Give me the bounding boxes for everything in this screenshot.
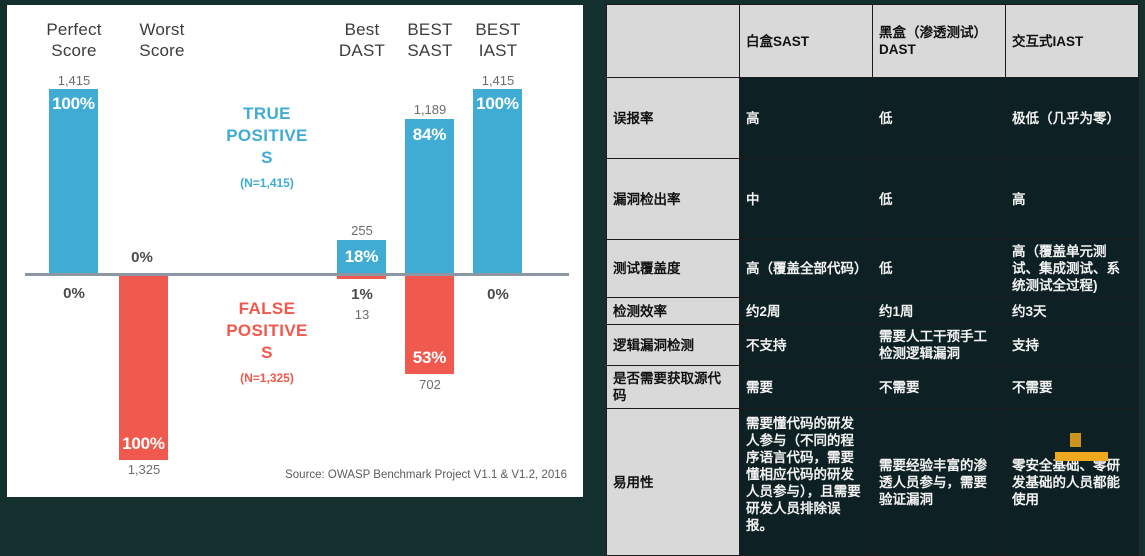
cell-detection-rate-iast: 高 [1006,159,1139,240]
table-column-header-dast: 黑盒（渗透测试） DAST [873,5,1006,78]
cell-ease-of-use-iast: 零安全基础、零研发基础的人员都能使用 [1006,409,1139,556]
col-header-lat: DAST [879,42,916,57]
table-header-row: 白盒SAST 黑盒（渗透测试） DAST 交互式IAST [607,5,1139,78]
cell-detection-rate-dast: 低 [873,159,1006,240]
cell-logic-flaw-detection-sast: 不支持 [740,325,873,366]
chart-source-attribution: Source: OWASP Benchmark Project V1.1 & V… [285,469,567,481]
bar-percent-label-worst-fp: 100% [119,434,168,454]
sast-dast-iast-comparison-table: 白盒SAST 黑盒（渗透测试） DAST 交互式IAST 误报率 高 低 极低（… [606,4,1139,556]
bar-count-label-iast-tp: 1,415 [463,73,533,88]
chart-column-header-worst-score: Worst Score [107,19,217,61]
header-line-2: IAST [459,40,537,61]
bar-count-label-dast-fp: 13 [327,307,397,322]
cell-detection-efficiency-sast: 约2周 [740,298,873,325]
table-row-ease-of-use: 易用性 需要懂代码的研发人参与（不同的程序语言代码，需要懂相应代码的研发人员参与… [607,409,1139,556]
legend-false-positives: FALSE POSITIVE S (N=1,325) [197,298,337,389]
table-row-false-positive-rate: 误报率 高 低 极低（几乎为零） [607,78,1139,159]
row-header-test-coverage: 测试覆盖度 [607,240,740,298]
cell-detection-rate-sast: 中 [740,159,873,240]
bar-count-label-dast-tp: 255 [327,223,397,238]
table-row-test-coverage: 测试覆盖度 高（覆盖全部代码） 低 高（覆盖单元测试、集成测试、系统测试全过程) [607,240,1139,298]
bar-fp-best-dast [337,276,386,279]
cell-false-positive-rate-iast: 极低（几乎为零） [1006,78,1139,159]
col-header-cjk: 黑盒（渗透测试） [879,25,987,40]
bar-percent-label-perfect-fp: 0% [39,285,109,302]
bar-tp-perfect-score: 100% [49,89,98,273]
comparison-table-wrapper: 白盒SAST 黑盒（渗透测试） DAST 交互式IAST 误报率 高 低 极低（… [606,4,1139,512]
header-line-2: DAST [323,40,401,61]
row-header-detection-efficiency: 检测效率 [607,298,740,325]
col-header-cjk: 交互式 [1012,34,1053,49]
table-row-detection-rate: 漏洞检出率 中 低 高 [607,159,1139,240]
table-corner-cell [607,5,740,78]
highlight-underline-marker [1055,452,1108,461]
legend-fp-line-3: S [197,342,337,364]
bar-percent-label-sast-tp: 84% [405,125,454,145]
table-row-logic-flaw-detection: 逻辑漏洞检测 不支持 需要人工干预手工检测逻辑漏洞 支持 [607,325,1139,366]
cell-logic-flaw-detection-dast: 需要人工干预手工检测逻辑漏洞 [873,325,1006,366]
header-line-1: BEST [391,19,469,40]
table-row-detection-efficiency: 检测效率 约2周 约1周 约3天 [607,298,1139,325]
col-header-cjk: 白盒 [746,34,773,49]
chart-column-header-best-dast: Best DAST [323,19,401,61]
legend-true-positives: TRUE POSITIVE S (N=1,415) [197,103,337,194]
bar-count-label-sast-tp: 1,189 [395,102,465,117]
cell-false-positive-rate-sast: 高 [740,78,873,159]
bar-percent-label-sast-fp: 53% [405,348,454,368]
bar-fp-worst-score: 100% [119,276,168,460]
col-header-lat: IAST [1053,34,1084,49]
legend-tp-line-3: S [197,147,337,169]
col-header-lat: SAST [773,34,809,49]
bar-tp-best-sast: 84% [405,119,454,273]
bar-percent-label-perfect-tp: 100% [49,94,98,114]
table-column-header-iast: 交互式IAST [1006,5,1139,78]
legend-fp-line-1: FALSE [197,298,337,320]
cell-test-coverage-iast: 高（覆盖单元测试、集成测试、系统测试全过程) [1006,240,1139,298]
cell-detection-efficiency-dast: 约1周 [873,298,1006,325]
cell-ease-of-use-dast: 需要经验丰富的渗透人员参与，需要验证漏洞 [873,409,1006,556]
cell-detection-efficiency-iast: 约3天 [1006,298,1139,325]
bar-tp-best-dast: 18% [337,240,386,273]
table-row-source-code-required: 是否需要获取源代码 需要 不需要 不需要 [607,366,1139,409]
header-line-2: Score [107,40,217,61]
header-line-1: Worst [107,19,217,40]
owasp-benchmark-chart: Perfect Score Worst Score Best DAST BEST… [7,5,583,497]
cell-test-coverage-dast: 低 [873,240,1006,298]
bar-count-label-perfect-tp: 1,415 [39,73,109,88]
chart-column-header-best-iast: BEST IAST [459,19,537,61]
bar-percent-label-iast-tp: 100% [473,94,522,114]
legend-fp-line-2: POSITIVE [197,320,337,342]
chart-column-header-best-sast: BEST SAST [391,19,469,61]
legend-fp-sample-size: (N=1,325) [197,367,337,389]
highlight-caret-icon [1070,433,1081,447]
bar-percent-label-iast-fp: 0% [463,286,533,303]
cell-test-coverage-sast: 高（覆盖全部代码） [740,240,873,298]
chart-baseline [25,273,569,276]
bar-count-label-sast-fp: 702 [395,377,465,392]
bar-percent-label-dast-fp: 1% [327,286,397,303]
legend-tp-sample-size: (N=1,415) [197,172,337,194]
header-line-1: Best [323,19,401,40]
legend-tp-line-2: POSITIVE [197,125,337,147]
cell-false-positive-rate-dast: 低 [873,78,1006,159]
bar-tp-best-iast: 100% [473,89,522,273]
bar-fp-best-sast: 53% [405,276,454,374]
slide: Perfect Score Worst Score Best DAST BEST… [0,0,1145,520]
cell-source-code-required-sast: 需要 [740,366,873,409]
row-header-logic-flaw-detection: 逻辑漏洞检测 [607,325,740,366]
cell-source-code-required-iast: 不需要 [1006,366,1139,409]
cell-logic-flaw-detection-iast: 支持 [1006,325,1139,366]
row-header-ease-of-use: 易用性 [607,409,740,556]
bar-percent-label-worst-tp: 0% [107,249,177,266]
bar-count-label-worst-fp: 1,325 [109,462,179,477]
cell-ease-of-use-sast: 需要懂代码的研发人参与（不同的程序语言代码，需要懂相应代码的研发人员参与），且需… [740,409,873,556]
row-header-source-code-required: 是否需要获取源代码 [607,366,740,409]
row-header-false-positive-rate: 误报率 [607,78,740,159]
header-line-2: SAST [391,40,469,61]
header-line-1: BEST [459,19,537,40]
legend-tp-line-1: TRUE [197,103,337,125]
table-column-header-sast: 白盒SAST [740,5,873,78]
bar-percent-label-dast-tp: 18% [337,247,386,267]
cell-source-code-required-dast: 不需要 [873,366,1006,409]
row-header-detection-rate: 漏洞检出率 [607,159,740,240]
